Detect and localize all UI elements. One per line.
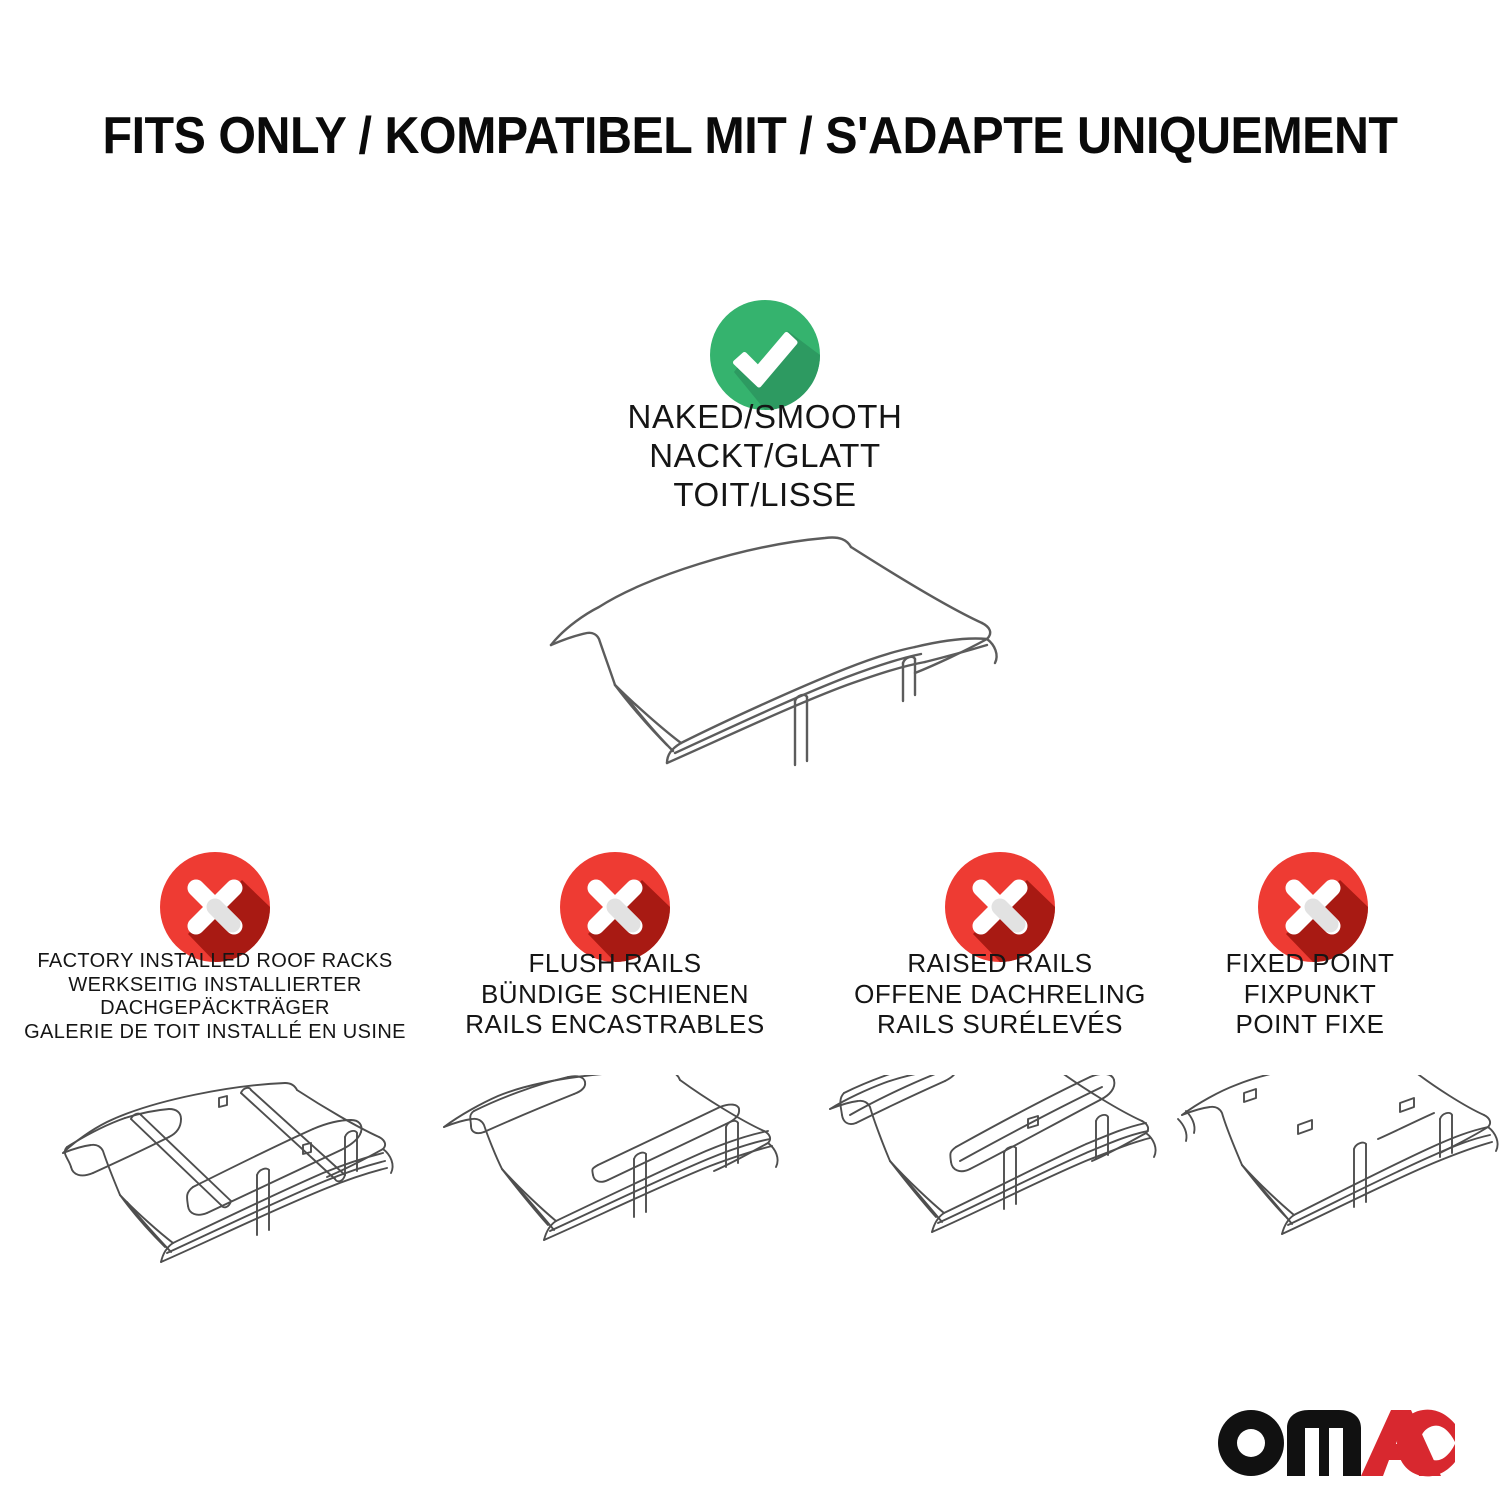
label-line-3: POINT FIXE	[1155, 1009, 1465, 1040]
compatible-label-line-2: NACKT/GLATT	[500, 437, 1030, 476]
incompatible-label-flush-rails: FLUSH RAILS BÜNDIGE SCHIENEN RAILS ENCAS…	[435, 948, 795, 1040]
factory-roof-rack-illustration	[45, 1075, 420, 1280]
label-line-1: FIXED POINT	[1155, 948, 1465, 979]
compatible-label-line-1: NAKED/SMOOTH	[500, 398, 1030, 437]
x-circle-icon	[945, 852, 1055, 962]
label-line-2: OFFENE DACHRELING	[820, 979, 1180, 1010]
incompatible-label-fixed-point: FIXED POINT FIXPUNKT POINT FIXE	[1155, 948, 1465, 1040]
incompatible-label-factory-roof-rack: FACTORY INSTALLED ROOF RACKS WERKSEITIG …	[10, 950, 420, 1044]
label-line-1: FACTORY INSTALLED ROOF RACKS	[10, 950, 420, 974]
label-line-2: WERKSEITIG INSTALLIERTER	[10, 974, 420, 998]
label-line-4: GALERIE DE TOIT INSTALLÉ EN USINE	[10, 1021, 420, 1045]
x-circle-icon	[560, 852, 670, 962]
compatible-label: NAKED/SMOOTH NACKT/GLATT TOIT/LISSE	[500, 398, 1030, 515]
label-line-3: DACHGEPÄCKTRÄGER	[10, 997, 420, 1021]
fixed-point-roof-illustration	[1178, 1075, 1500, 1280]
label-line-2: BÜNDIGE SCHIENEN	[435, 979, 795, 1010]
check-circle-icon	[710, 300, 820, 410]
page-title: FITS ONLY / KOMPATIBEL MIT / S'ADAPTE UN…	[53, 106, 1448, 166]
x-circle-icon	[1258, 852, 1368, 962]
label-line-1: RAISED RAILS	[820, 948, 1180, 979]
omac-logo	[1215, 1398, 1455, 1480]
label-line-2: FIXPUNKT	[1155, 979, 1465, 1010]
flush-rails-roof-illustration	[438, 1075, 813, 1280]
raised-rails-roof-illustration	[828, 1075, 1203, 1280]
label-line-1: FLUSH RAILS	[435, 948, 795, 979]
label-line-3: RAILS ENCASTRABLES	[435, 1009, 795, 1040]
incompatible-label-raised-rails: RAISED RAILS OFFENE DACHRELING RAILS SUR…	[820, 948, 1180, 1040]
label-line-3: RAILS SURÉLEVÉS	[820, 1009, 1180, 1040]
x-circle-icon	[160, 852, 270, 962]
naked-smooth-roof-illustration	[495, 505, 1055, 815]
